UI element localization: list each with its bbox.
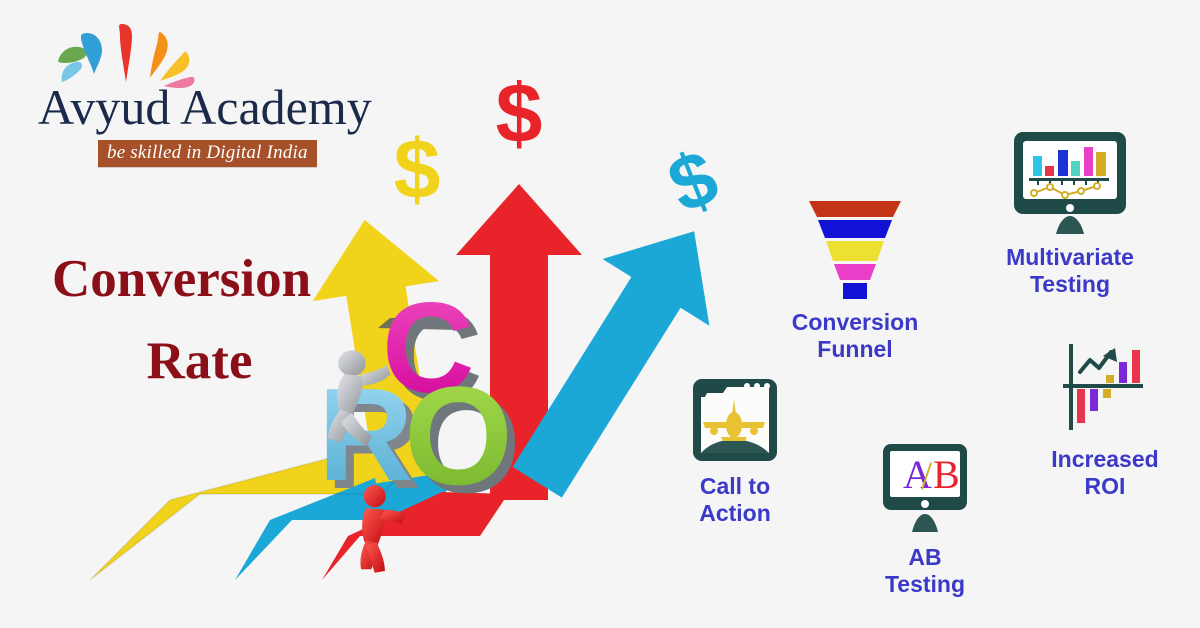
monitor-ab-icon: A / B	[877, 440, 973, 536]
browser-airplane-icon	[689, 375, 781, 465]
feature-multivariate-testing-label: Multivariate Testing	[975, 244, 1165, 298]
feature-call-to-action[interactable]: Call to Action	[640, 375, 830, 527]
ab-slash: /	[921, 453, 933, 498]
feature-increased-roi-label: Increased ROI	[1010, 446, 1200, 500]
funnel-icon	[795, 195, 915, 301]
currency-symbols: $ $ $	[394, 80, 730, 230]
dollar-sign-yellow: $	[394, 122, 441, 216]
feature-conversion-funnel-label: Conversion Funnel	[760, 309, 950, 363]
feature-multivariate-testing[interactable]: Multivariate Testing	[975, 128, 1165, 298]
letter-o: O	[404, 357, 513, 514]
poster-canvas: Avyud Academy be skilled in Digital Indi…	[0, 0, 1200, 628]
ab-letter-b: B	[933, 452, 960, 497]
feature-conversion-funnel[interactable]: Conversion Funnel	[760, 195, 950, 363]
trending-bar-chart-icon	[1049, 338, 1161, 438]
feature-call-to-action-label: Call to Action	[640, 473, 830, 527]
dollar-sign-blue: $	[656, 132, 729, 230]
cro-illustration: $ $ $ C C R R O O	[60, 80, 740, 620]
monitor-bar-chart-icon	[1009, 128, 1131, 236]
feature-ab-testing[interactable]: A / B AB Testing	[830, 440, 1020, 598]
feature-ab-testing-label: AB Testing	[830, 544, 1020, 598]
feature-increased-roi[interactable]: Increased ROI	[1010, 338, 1200, 500]
dollar-sign-red: $	[496, 80, 543, 160]
